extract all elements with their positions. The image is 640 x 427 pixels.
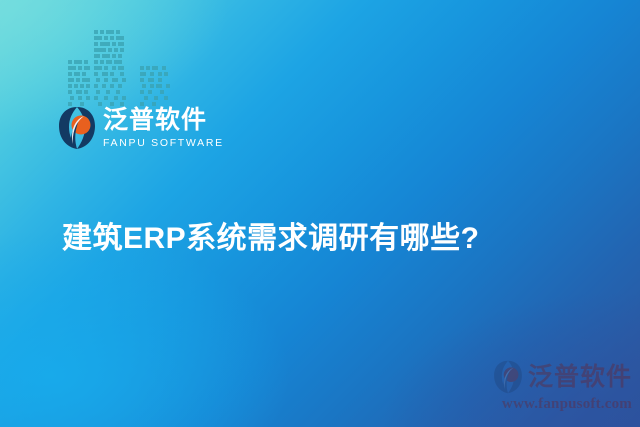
page-title: 建筑ERP系统需求调研有哪些? [62,220,480,258]
watermark-url: www.fanpusoft.com [493,396,632,413]
watermark: 泛普软件 www.fanpusoft.com [493,360,632,413]
brand-name-cn: 泛普软件 [103,108,224,133]
watermark-logo-row: 泛普软件 [493,360,632,394]
brand-logo: 泛普软件 FANPU SOFTWARE [58,106,224,150]
watermark-name-cn: 泛普软件 [528,365,632,390]
brand-name-en: FANPU SOFTWARE [103,138,224,149]
fanpu-logo-mark-icon [58,106,96,150]
brand-wordmark: 泛普软件 FANPU SOFTWARE [103,108,224,149]
pixel-building-skyline-icon [66,28,186,110]
watermark-logo-mark-icon [493,360,523,394]
banner-cover: 泛普软件 FANPU SOFTWARE 建筑ERP系统需求调研有哪些? 泛普软件… [0,0,640,427]
